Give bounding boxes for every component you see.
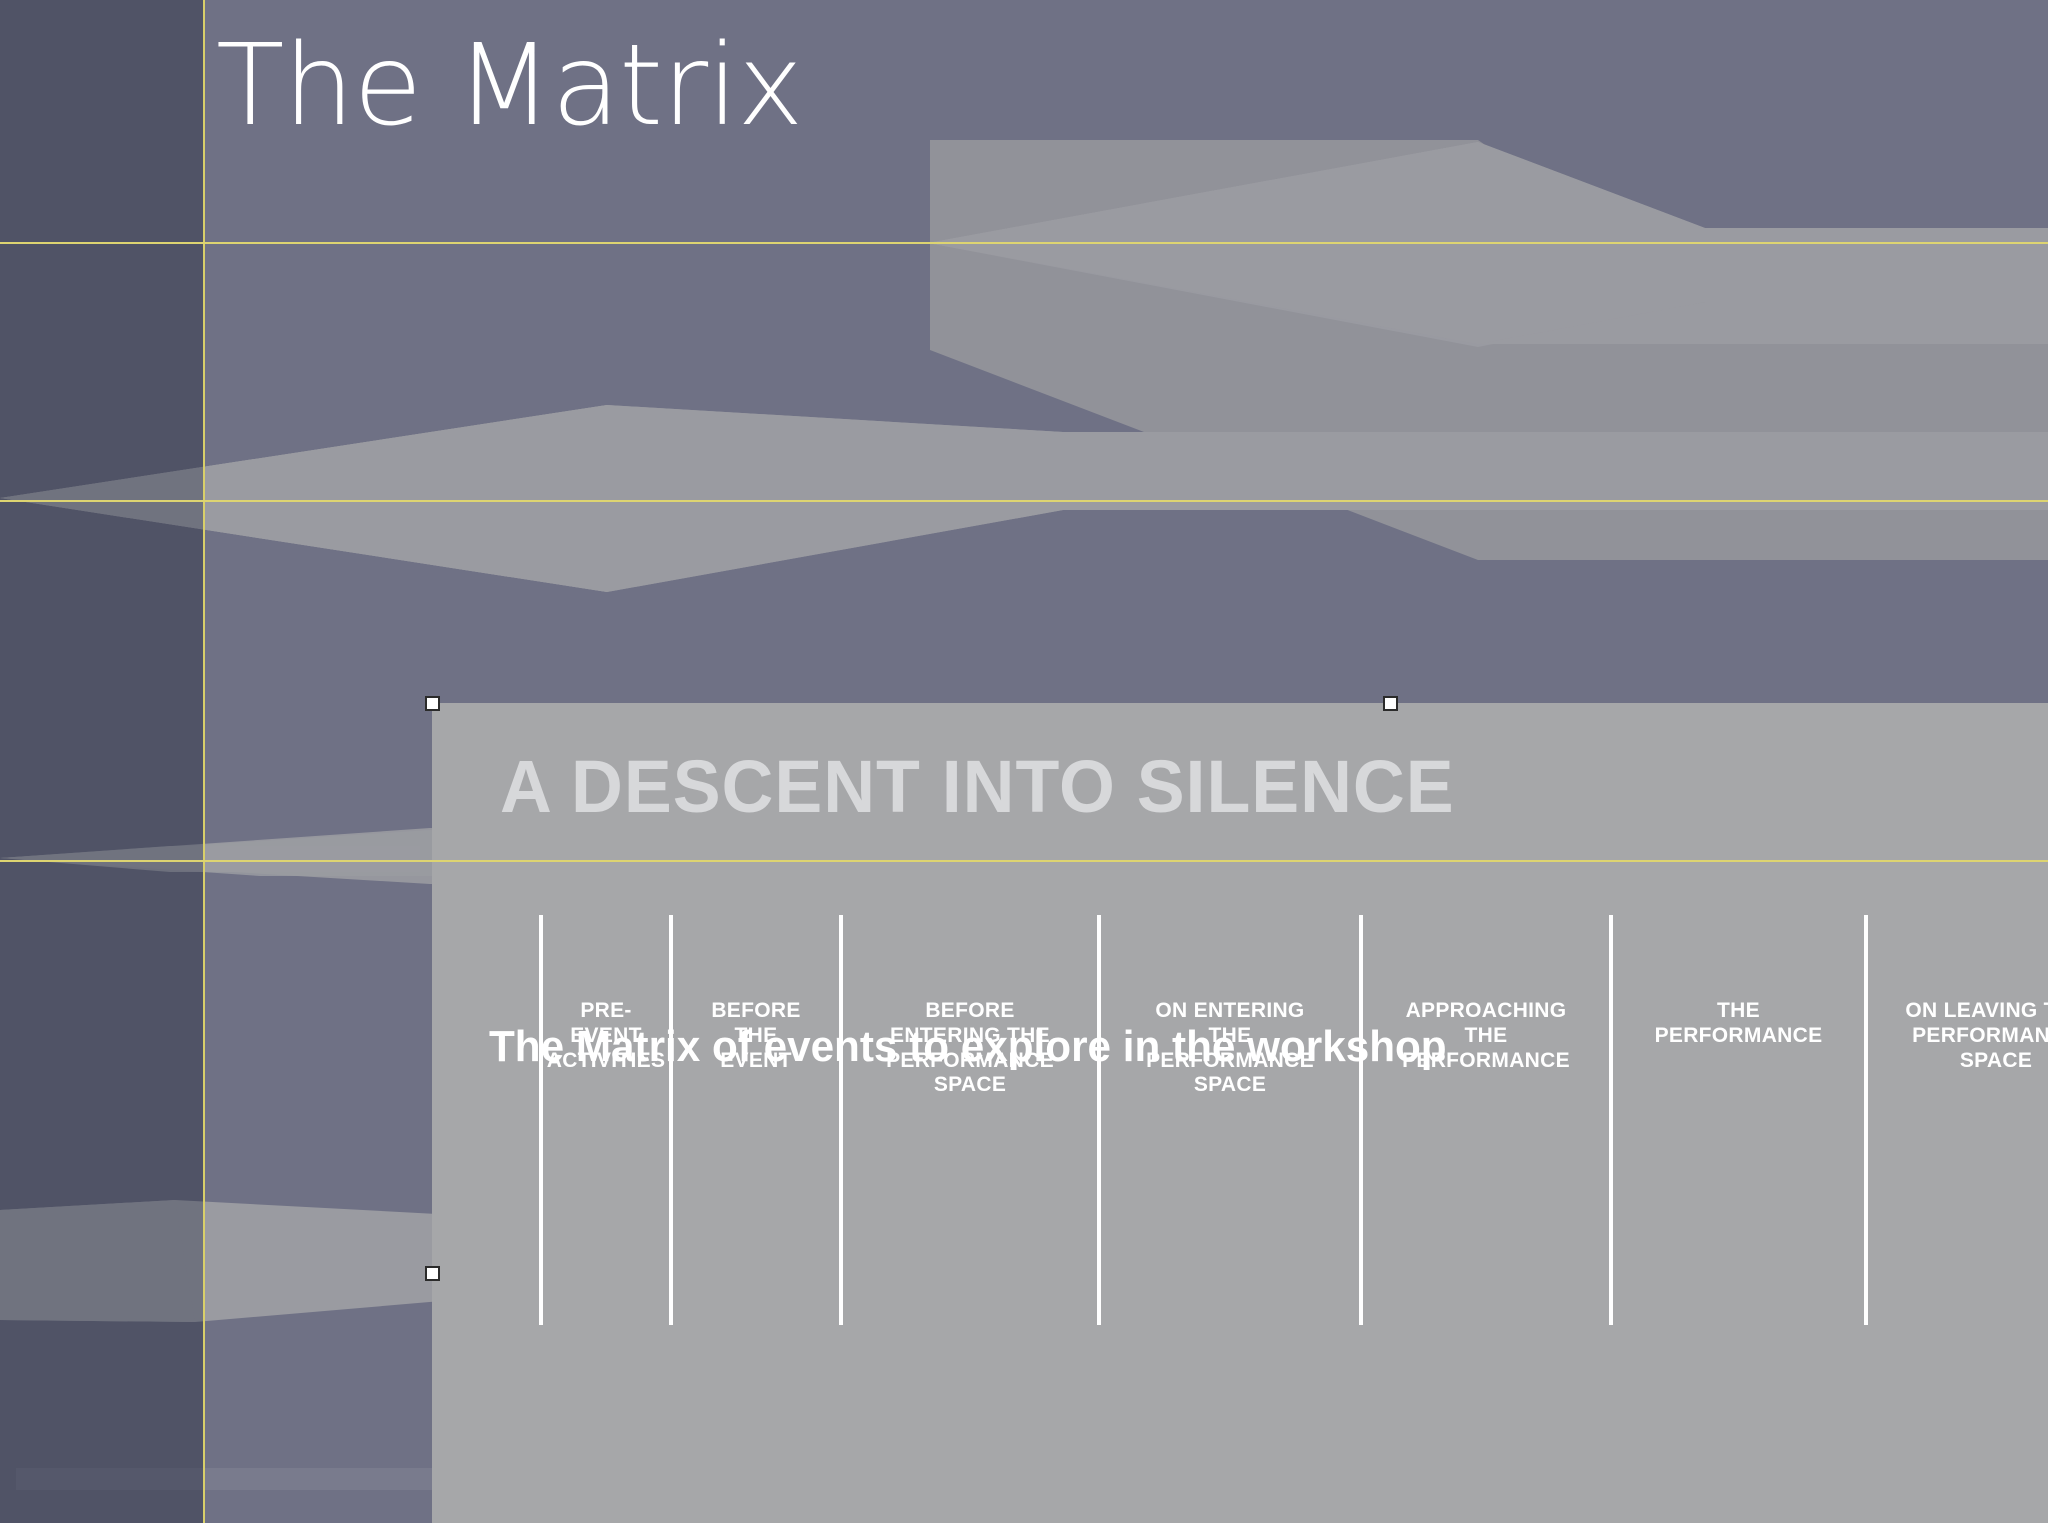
guide-horizontal-1[interactable]	[0, 242, 2048, 244]
handle-middle-left[interactable]	[425, 1266, 440, 1281]
matrix-column-label: ON ENTERING THE PERFORMANCE SPACE	[1140, 999, 1320, 1325]
content-placeholder-box[interactable]: A DESCENT INTO SILENCE The Matrix of eve…	[432, 703, 2048, 1523]
matrix-column: THE PERFORMANCE	[1609, 915, 1864, 1325]
matrix-column: ON LEAVING THE PERFORMANCE SPACE	[1864, 915, 2048, 1325]
guide-horizontal-3[interactable]	[0, 860, 2048, 862]
matrix-column-label: BEFORE THE EVENT	[705, 999, 806, 1325]
matrix-column: BEFORE THE EVENT	[669, 915, 839, 1325]
handle-top-center[interactable]	[1383, 696, 1398, 711]
matrix-column-label: THE PERFORMANCE	[1649, 999, 1829, 1325]
box-heading: A DESCENT INTO SILENCE	[500, 748, 1455, 826]
matrix-column-label: APPROACHING THE PERFORMANCE	[1396, 999, 1576, 1325]
matrix-column-label: ON LEAVING THE PERFORMANCE SPACE	[1899, 999, 2048, 1325]
guide-vertical-1[interactable]	[203, 0, 205, 1523]
slide-canvas[interactable]: The Matrix A DESCENT INTO SILENCE The Ma…	[0, 0, 2048, 1523]
matrix-column-label: BEFORE ENTERING THE PERFORMANCE SPACE	[880, 999, 1060, 1325]
matrix-columns: PRE-EVENT ACTIVITIESBEFORE THE EVENTBEFO…	[539, 915, 2048, 1325]
matrix-column: ON ENTERING THE PERFORMANCE SPACE	[1097, 915, 1359, 1325]
handle-top-left[interactable]	[425, 696, 440, 711]
matrix-column: BEFORE ENTERING THE PERFORMANCE SPACE	[839, 915, 1097, 1325]
matrix-column: PRE-EVENT ACTIVITIES	[539, 915, 669, 1325]
matrix-column-label: PRE-EVENT ACTIVITIES	[541, 999, 672, 1325]
guide-horizontal-2[interactable]	[0, 500, 2048, 502]
matrix-column: APPROACHING THE PERFORMANCE	[1359, 915, 1609, 1325]
slide-title[interactable]: The Matrix	[216, 20, 803, 152]
